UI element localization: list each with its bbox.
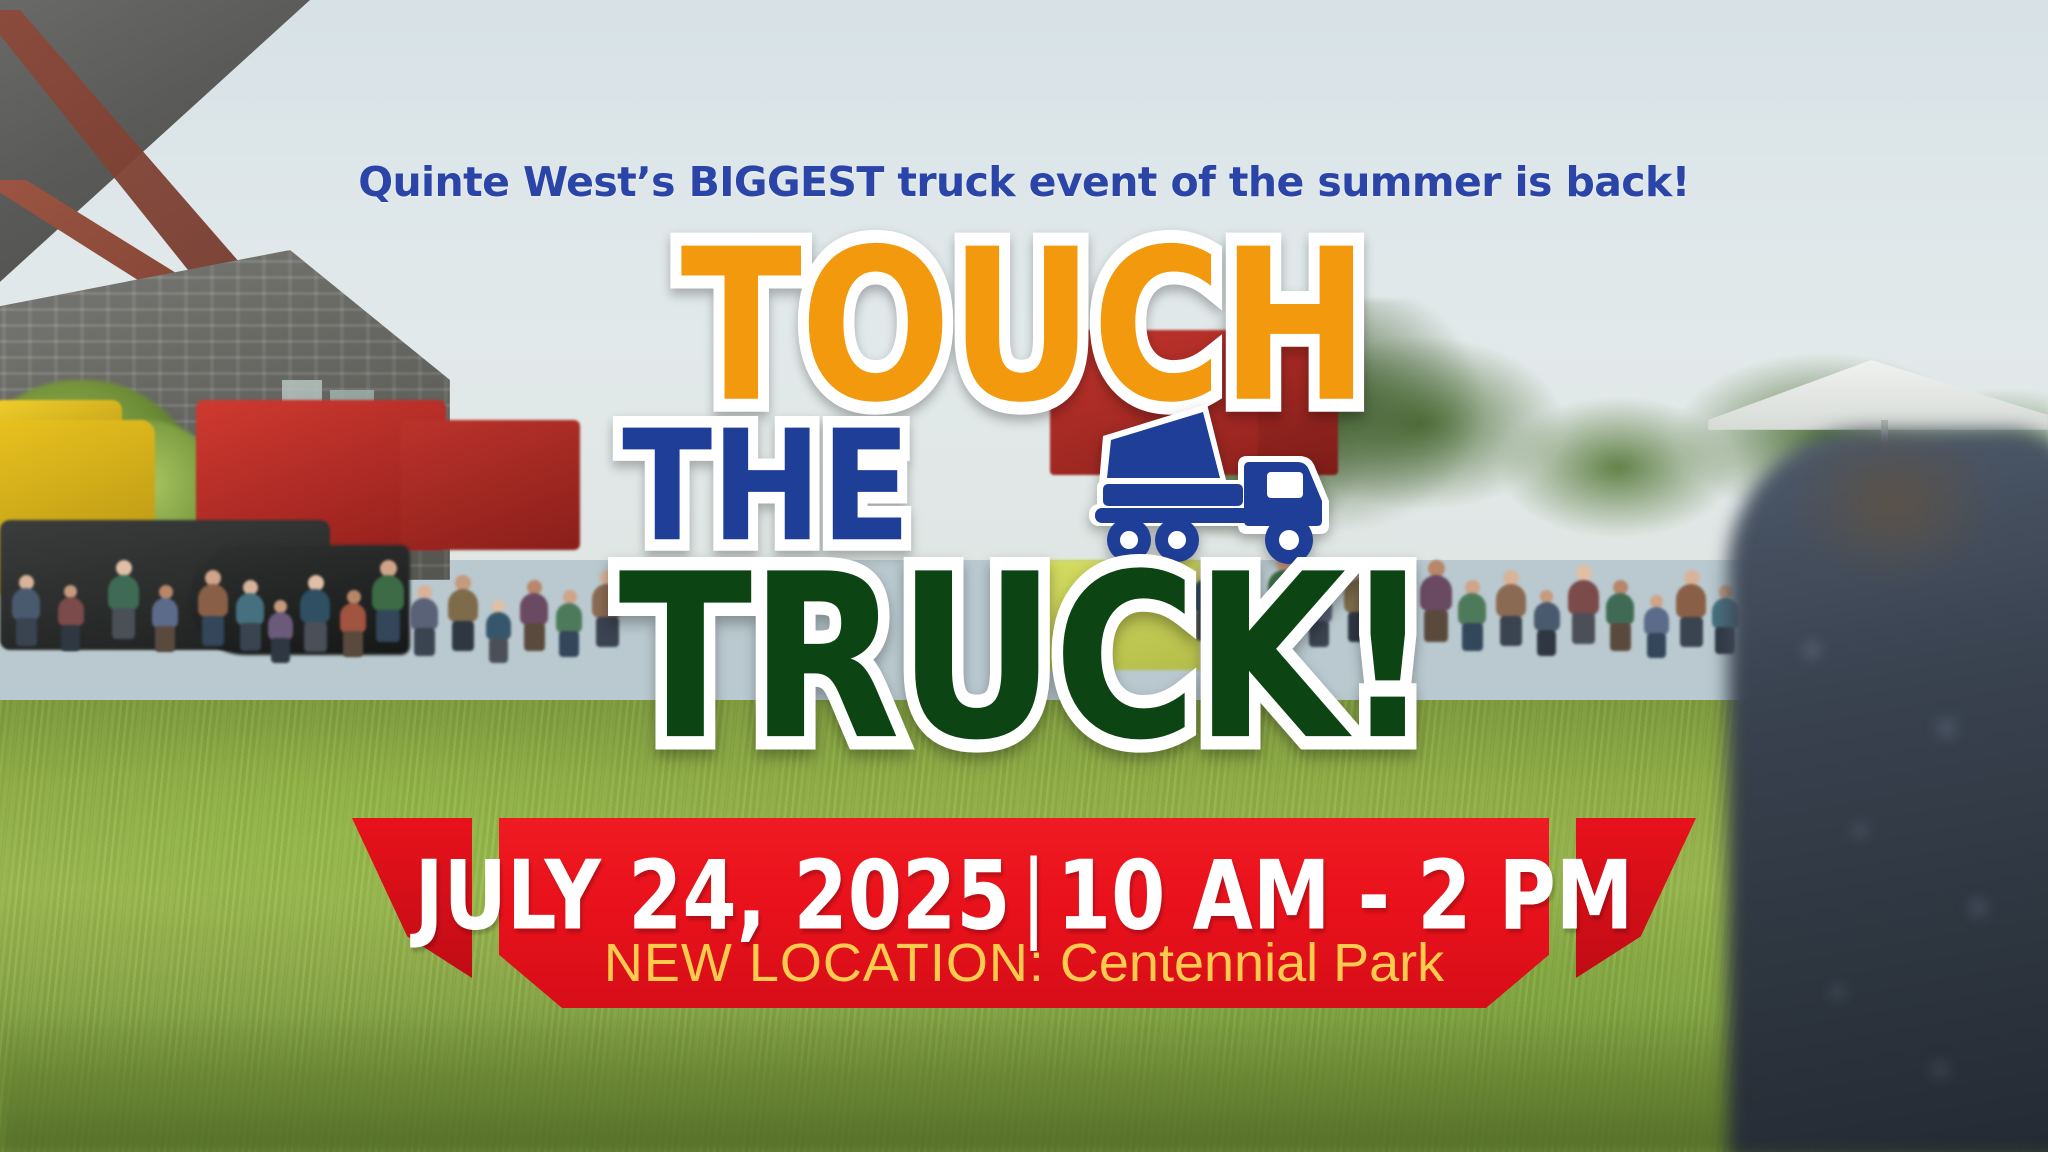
tagline: Quinte West’s BIGGEST truck event of the… (0, 158, 2048, 206)
title-block: TOUCH THE (0, 230, 2048, 734)
banner-location-row: NEW LOCATION: Centennial Park (0, 932, 2048, 994)
title-word-truck: TRUCK! (0, 554, 2048, 763)
event-poster: Quinte West’s BIGGEST truck event of the… (0, 0, 2048, 1152)
location-name: Centennial Park (1060, 933, 1444, 993)
location-label: NEW LOCATION: (604, 933, 1045, 993)
